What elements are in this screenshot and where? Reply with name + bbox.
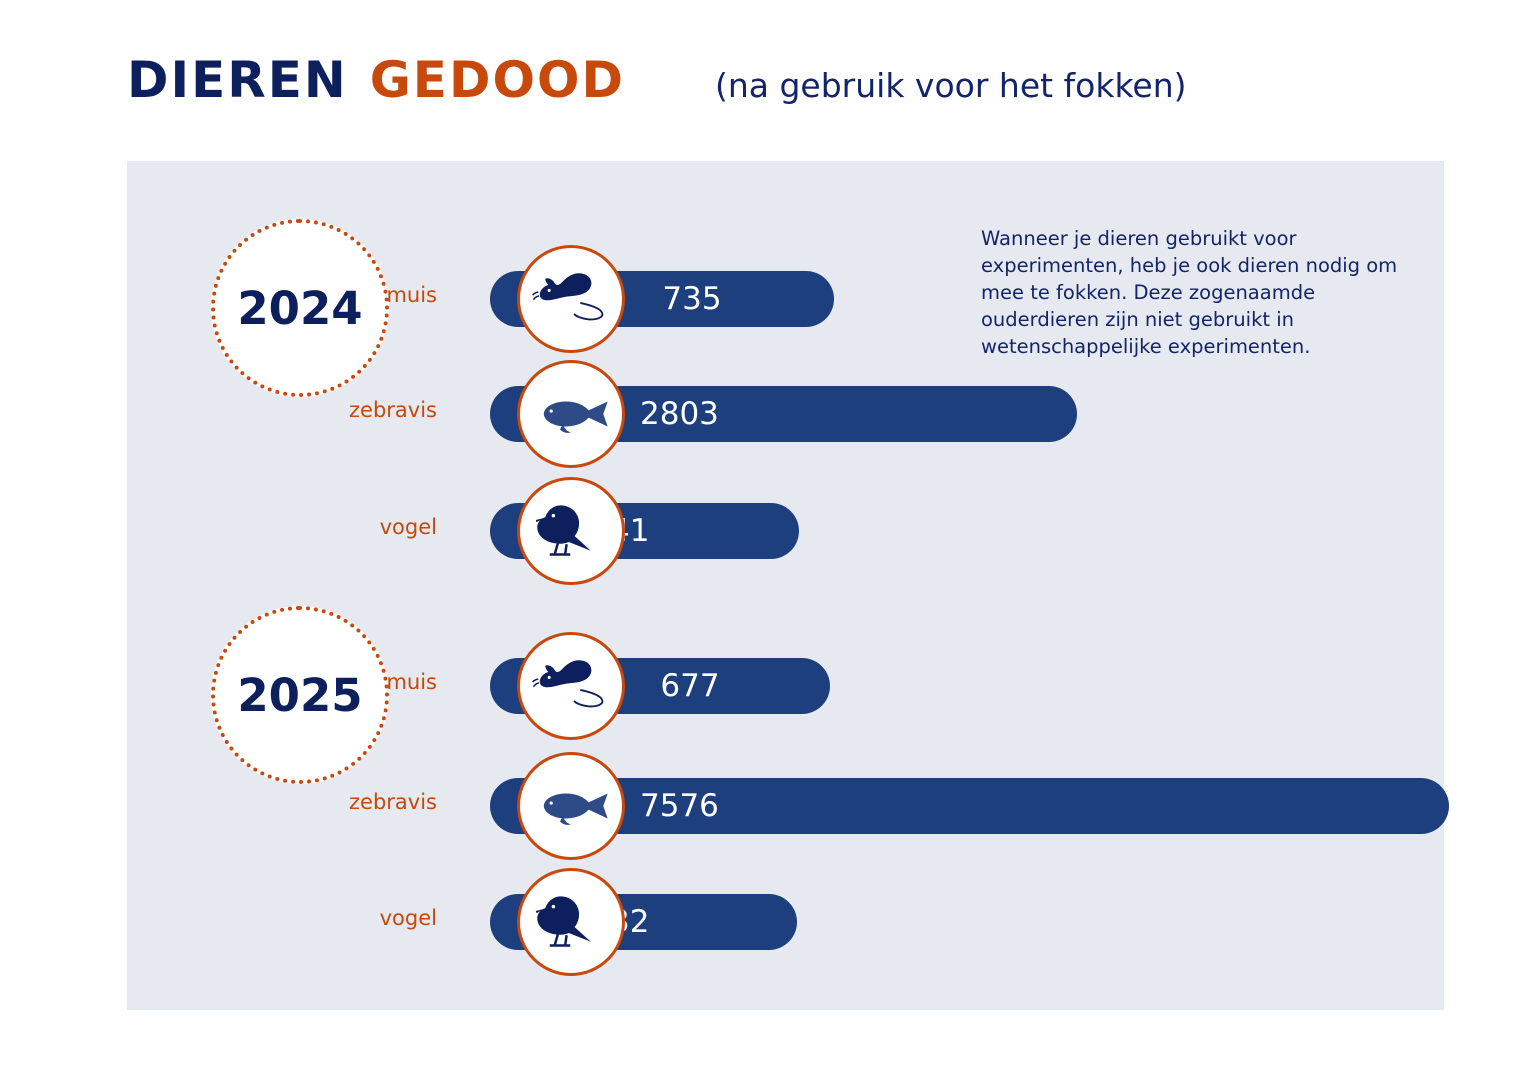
- icon-badge-fish: [517, 360, 625, 468]
- bar-row-label: zebravis: [349, 398, 437, 422]
- title-subtitle: (na gebruik voor het fokken): [715, 69, 1187, 102]
- fish-icon: [530, 392, 612, 436]
- icon-badge-bird: [517, 868, 625, 976]
- page-title: DIEREN GEDOOD (na gebruik voor het fokke…: [127, 55, 1447, 125]
- title-word-dieren: DIEREN: [127, 55, 348, 105]
- bar-row-label: muis: [386, 283, 437, 307]
- bar-row-2024-vogel: vogel 41: [127, 477, 1444, 585]
- bar-row-2025-vogel: vogel 32: [127, 868, 1444, 976]
- bar-row-label: vogel: [380, 515, 437, 539]
- bar-row-label: vogel: [380, 906, 437, 930]
- bar-row-2024-muis: muis 735: [127, 245, 1444, 353]
- fish-icon: [530, 784, 612, 828]
- bird-icon: [534, 498, 608, 564]
- bar-row-label: zebravis: [349, 790, 437, 814]
- icon-badge-mouse: [517, 632, 625, 740]
- icon-badge-mouse: [517, 245, 625, 353]
- bar-row-label: muis: [386, 670, 437, 694]
- bar-row-2025-muis: muis 677: [127, 632, 1444, 740]
- title-word-gedood: GEDOOD: [370, 55, 625, 105]
- mouse-icon: [532, 271, 610, 327]
- icon-badge-bird: [517, 477, 625, 585]
- icon-badge-fish: [517, 752, 625, 860]
- mouse-icon: [532, 658, 610, 714]
- bird-icon: [534, 889, 608, 955]
- bar-value-label: 7576: [490, 788, 1449, 824]
- bar-row-2025-zebravis: zebravis 7576: [127, 752, 1444, 860]
- bar-row-2024-zebravis: zebravis 2803: [127, 360, 1444, 468]
- infographic-panel: 2024 2025 Wanneer je dieren gebruikt voo…: [127, 161, 1444, 1010]
- bar-2025-zebravis: 7576: [490, 778, 1449, 834]
